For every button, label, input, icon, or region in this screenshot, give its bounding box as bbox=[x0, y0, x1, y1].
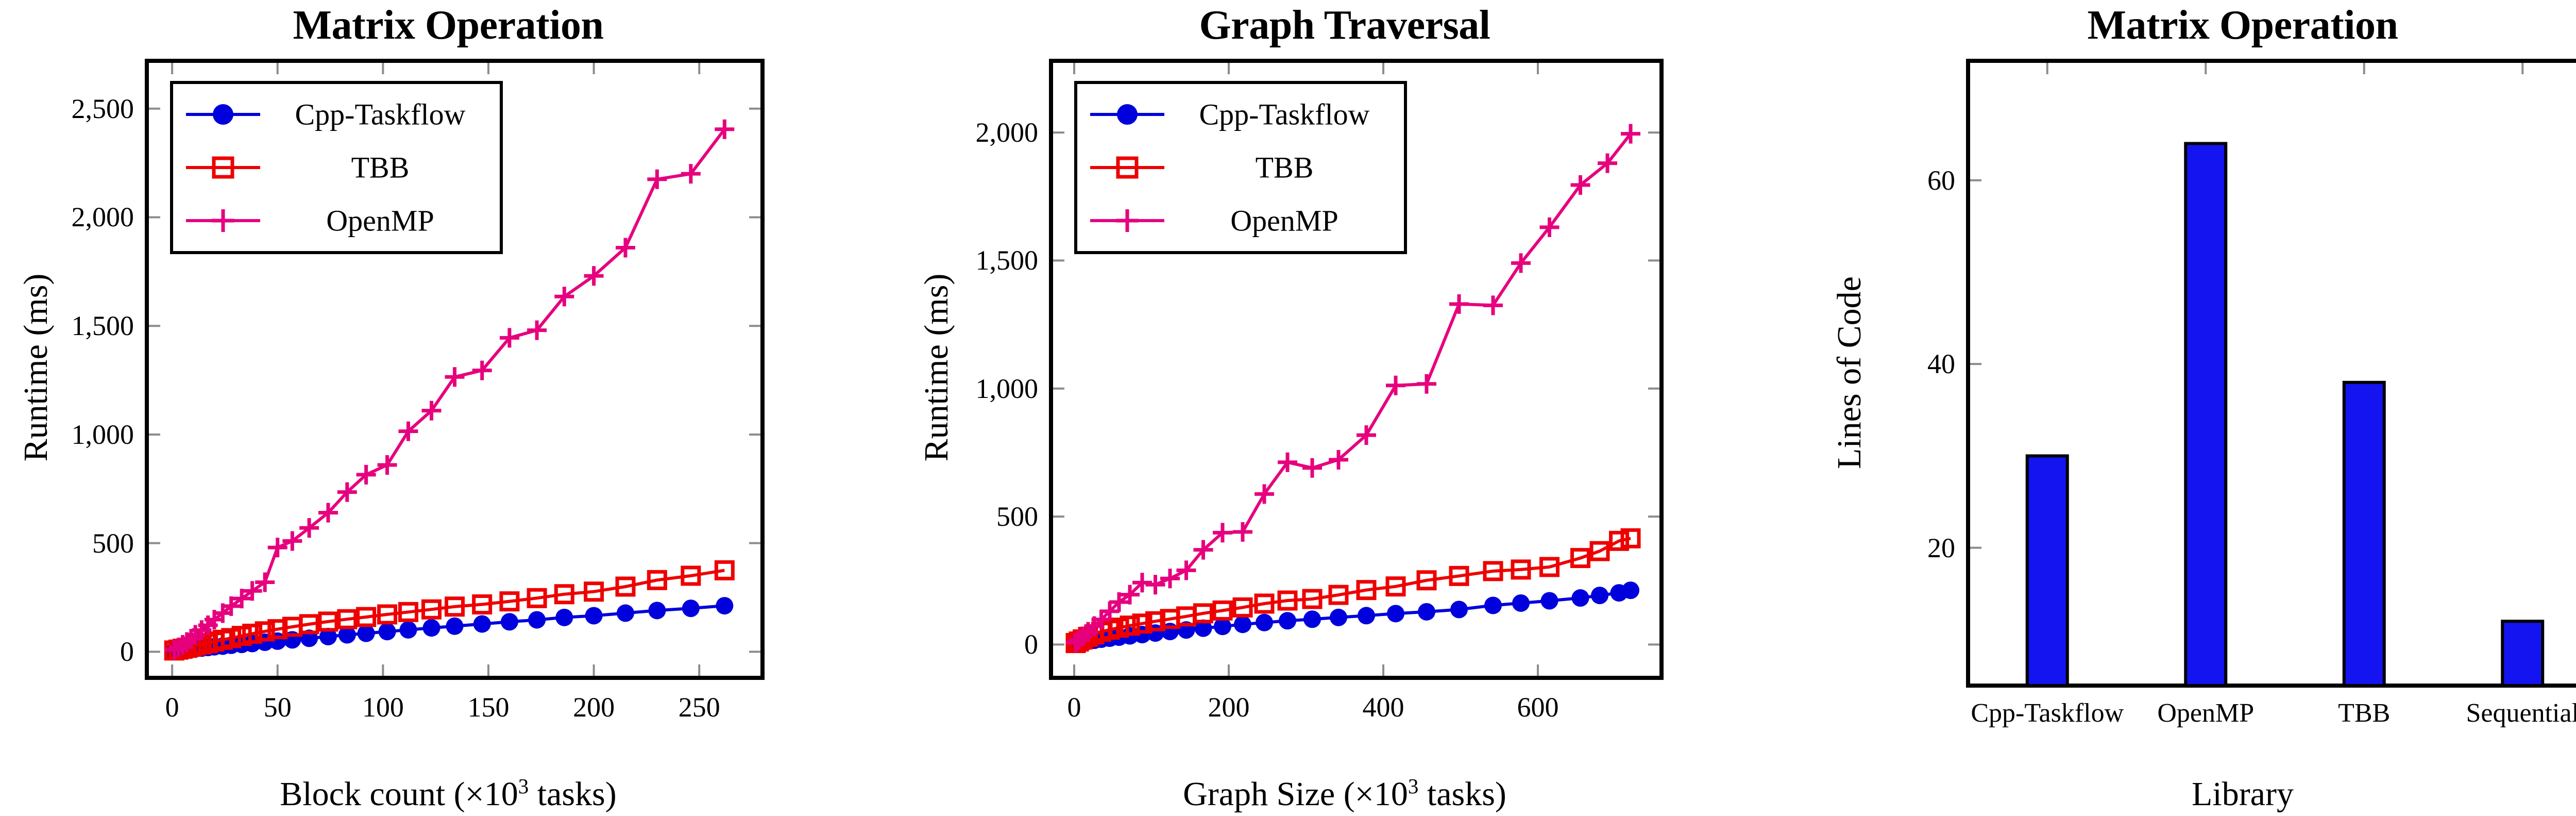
y-tick-label: 500 bbox=[28, 527, 134, 559]
x-tick-label: 600 bbox=[1517, 691, 1559, 723]
x-axis-label: Block count (×103 tasks) bbox=[0, 774, 896, 814]
x-tick-label: 0 bbox=[1067, 691, 1081, 723]
category-tick-label: TBB bbox=[2338, 698, 2390, 728]
legend-item-openmp: OpenMP bbox=[1171, 204, 1398, 238]
category-tick-label: OpenMP bbox=[2157, 698, 2254, 728]
panel-matrix-operation-loc: Matrix Operation Lines of Code Library 2… bbox=[1793, 0, 2576, 816]
y-tick-label: 0 bbox=[28, 636, 134, 668]
x-axis-label: Graph Size (×103 tasks) bbox=[896, 774, 1793, 814]
y-tick-label: 1,500 bbox=[28, 310, 134, 342]
x-tick-label: 400 bbox=[1363, 691, 1404, 723]
legend-item-tbb: TBB bbox=[1171, 151, 1398, 185]
y-tick-label: 1,000 bbox=[28, 419, 134, 451]
y-tick-label: 2,500 bbox=[28, 93, 134, 125]
legend-item-cpp-taskflow: Cpp-Taskflow bbox=[1171, 97, 1398, 132]
panel-matrix-operation-runtime: Matrix Operation Runtime (ms) Block coun… bbox=[0, 0, 896, 816]
y-tick-label: 1,000 bbox=[933, 373, 1038, 405]
x-tick-label: 50 bbox=[264, 691, 292, 723]
legend-item-tbb: TBB bbox=[267, 151, 494, 185]
category-tick-label: Cpp-Taskflow bbox=[1971, 698, 2124, 728]
legend-item-openmp: OpenMP bbox=[267, 204, 494, 238]
y-tick-label: 0 bbox=[933, 628, 1038, 660]
y-tick-label: 20 bbox=[1873, 532, 1955, 564]
panel-graph-traversal-runtime: Graph Traversal Runtime (ms) Graph Size … bbox=[896, 0, 1793, 816]
y-tick-label: 500 bbox=[933, 501, 1038, 532]
legend-item-cpp-taskflow: Cpp-Taskflow bbox=[267, 97, 494, 132]
x-tick-label: 0 bbox=[165, 691, 179, 723]
category-tick-label: Sequential bbox=[2466, 698, 2576, 728]
x-tick-label: 100 bbox=[362, 691, 404, 723]
y-tick-label: 2,000 bbox=[28, 201, 134, 233]
x-tick-label: 150 bbox=[467, 691, 509, 723]
y-tick-label: 1,500 bbox=[933, 244, 1038, 276]
x-tick-label: 250 bbox=[679, 691, 720, 723]
y-tick-label: 2,000 bbox=[933, 116, 1038, 148]
x-tick-label: 200 bbox=[1208, 691, 1250, 723]
y-tick-label: 40 bbox=[1873, 348, 1955, 380]
x-tick-label: 200 bbox=[573, 691, 615, 723]
x-axis-label: Library bbox=[1793, 775, 2576, 814]
multi-panel-figure: Matrix Operation Runtime (ms) Block coun… bbox=[0, 0, 2576, 816]
y-tick-label: 60 bbox=[1873, 164, 1955, 196]
